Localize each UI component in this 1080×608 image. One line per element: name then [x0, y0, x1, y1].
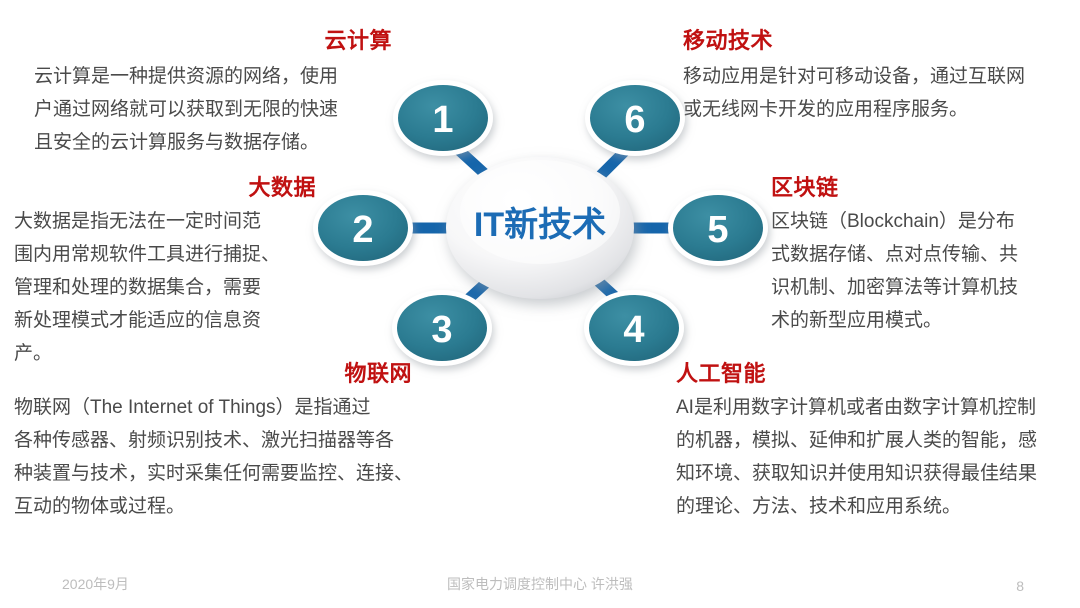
- topic-block-iot: 物联网 物联网（The Internet of Things）是指通过 各种传感…: [0, 361, 470, 523]
- topic-line: 物联网（The Internet of Things）是指通过: [14, 391, 470, 424]
- node-number-6: 6: [624, 99, 645, 141]
- topic-block-blockchain: 区块链 区块链（Blockchain）是分布 式数据存储、点对点传输、共 识机制…: [771, 175, 1080, 337]
- topic-heading-blockchain: 区块链: [771, 175, 1080, 200]
- topic-line: AI是利用数字计算机或者由数字计算机控制: [676, 391, 1076, 424]
- node-number-1: 1: [432, 99, 453, 141]
- topic-body-iot: 物联网（The Internet of Things）是指通过 各种传感器、射频…: [0, 391, 470, 523]
- topic-line: 术的新型应用模式。: [771, 304, 1080, 337]
- topic-body-ai: AI是利用数字计算机或者由数字计算机控制 的机器，模拟、延伸和扩展人类的智能，感…: [676, 391, 1076, 523]
- topic-heading-cloud: 云计算: [20, 28, 400, 53]
- slide-canvas: 云计算 云计算是一种提供资源的网络，使用 户通过网络就可以获取到无限的快速 且安…: [0, 0, 1080, 608]
- topic-line: 大数据是指无法在一定时间范: [14, 205, 320, 238]
- topic-heading-mobile: 移动技术: [683, 28, 1073, 53]
- hub-node-3[interactable]: 3: [392, 290, 492, 366]
- topic-block-ai: 人工智能 AI是利用数字计算机或者由数字计算机控制 的机器，模拟、延伸和扩展人类…: [676, 361, 1076, 523]
- hub-node-5[interactable]: 5: [668, 190, 768, 266]
- hub-center: IT新技术: [446, 157, 634, 299]
- hub-node-6[interactable]: 6: [585, 80, 685, 156]
- node-number-5: 5: [707, 209, 728, 251]
- topic-heading-bigdata: 大数据: [0, 175, 320, 200]
- topic-line: 的机器，模拟、延伸和扩展人类的智能，感: [676, 424, 1076, 457]
- topic-line: 各种传感器、射频识别技术、激光扫描器等各: [14, 424, 470, 457]
- topic-line: 知环境、获取知识并使用知识获得最佳结果: [676, 457, 1076, 490]
- footer-center-text: 国家电力调度控制中心 许洪强: [0, 574, 1080, 594]
- topic-body-blockchain: 区块链（Blockchain）是分布 式数据存储、点对点传输、共 识机制、加密算…: [771, 205, 1080, 337]
- node-number-2: 2: [352, 209, 373, 251]
- node-number-4: 4: [623, 309, 644, 351]
- topic-line: 识机制、加密算法等计算机技: [771, 271, 1080, 304]
- topic-line: 互动的物体或过程。: [14, 490, 470, 523]
- hub-center-label: IT新技术: [474, 206, 606, 244]
- topic-line: 的理论、方法、技术和应用系统。: [676, 490, 1076, 523]
- topic-body-bigdata: 大数据是指无法在一定时间范 围内用常规软件工具进行捕捉、 管理和处理的数据集合，…: [0, 205, 320, 370]
- topic-line: 围内用常规软件工具进行捕捉、: [14, 238, 320, 271]
- hub-node-1[interactable]: 1: [393, 80, 493, 156]
- topic-line: 新处理模式才能适应的信息资: [14, 304, 320, 337]
- footer-page-number: 8: [1016, 578, 1024, 594]
- hub-node-2[interactable]: 2: [313, 190, 413, 266]
- topic-line: 区块链（Blockchain）是分布: [771, 205, 1080, 238]
- hub-diagram: IT新技术 1 6 2: [300, 60, 780, 380]
- topic-line: 管理和处理的数据集合，需要: [14, 271, 320, 304]
- topic-block-bigdata: 大数据 大数据是指无法在一定时间范 围内用常规软件工具进行捕捉、 管理和处理的数…: [0, 175, 320, 370]
- node-number-3: 3: [431, 309, 452, 351]
- hub-node-4[interactable]: 4: [584, 290, 684, 366]
- topic-line: 种装置与技术，实时采集任何需要监控、连接、: [14, 457, 470, 490]
- topic-line: 式数据存储、点对点传输、共: [771, 238, 1080, 271]
